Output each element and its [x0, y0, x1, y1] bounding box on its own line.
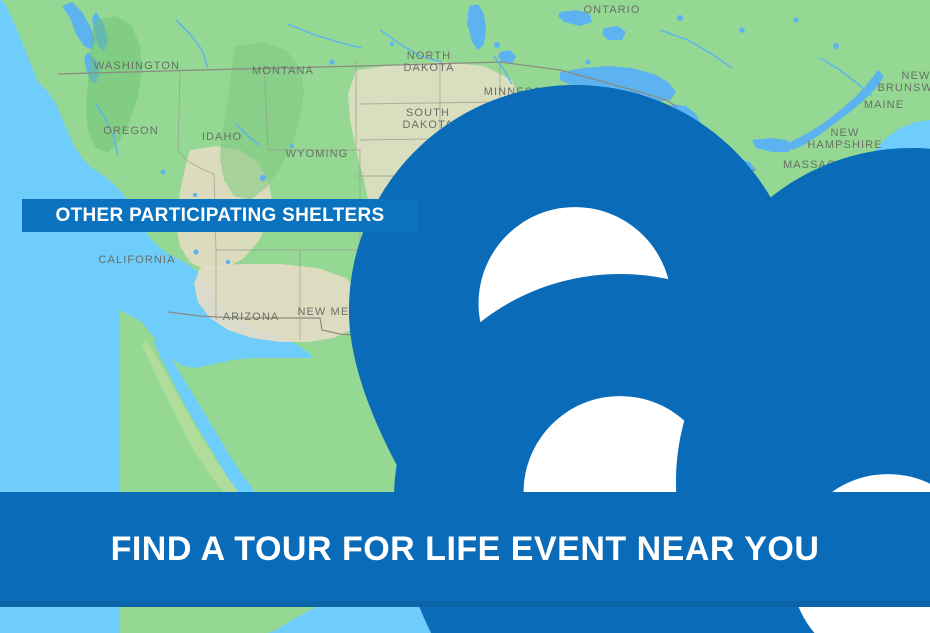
pin-nebraska[interactable]	[447, 148, 477, 190]
pin-texas[interactable]	[423, 352, 453, 394]
pin-oregon[interactable]	[110, 85, 140, 127]
find-a-tour-banner: FIND A TOUR FOR LIFE EVENT NEAR YOU	[0, 492, 930, 607]
pin-illinois-b[interactable]	[555, 170, 585, 212]
pin-iowa-b[interactable]	[496, 171, 526, 213]
other-participating-shelters-banner: OTHER PARTICIPATING SHELTERS	[22, 199, 418, 232]
pin-arkansas[interactable]	[528, 249, 558, 291]
map-hero: WASHINGTONMONTANANORTHDAKOTAMINNESOTAONT…	[0, 0, 930, 633]
other-participating-shelters-label: OTHER PARTICIPATING SHELTERS	[56, 205, 385, 227]
pin-florida[interactable]	[701, 396, 731, 438]
find-banner-underline	[0, 601, 930, 607]
pin-southern-cal[interactable]	[155, 274, 185, 316]
pin-louisiana[interactable]	[490, 308, 520, 350]
pin-kansas[interactable]	[474, 241, 504, 283]
pin-maryland[interactable]	[731, 180, 761, 222]
pin-kentucky[interactable]	[666, 197, 696, 239]
pin-new-hampshire[interactable]	[818, 91, 848, 133]
pin-tennessee[interactable]	[570, 255, 600, 297]
find-a-tour-headline: FIND A TOUR FOR LIFE EVENT NEAR YOU	[111, 530, 820, 569]
pin-virginia[interactable]	[703, 190, 733, 232]
pin-oklahoma[interactable]	[437, 256, 467, 298]
